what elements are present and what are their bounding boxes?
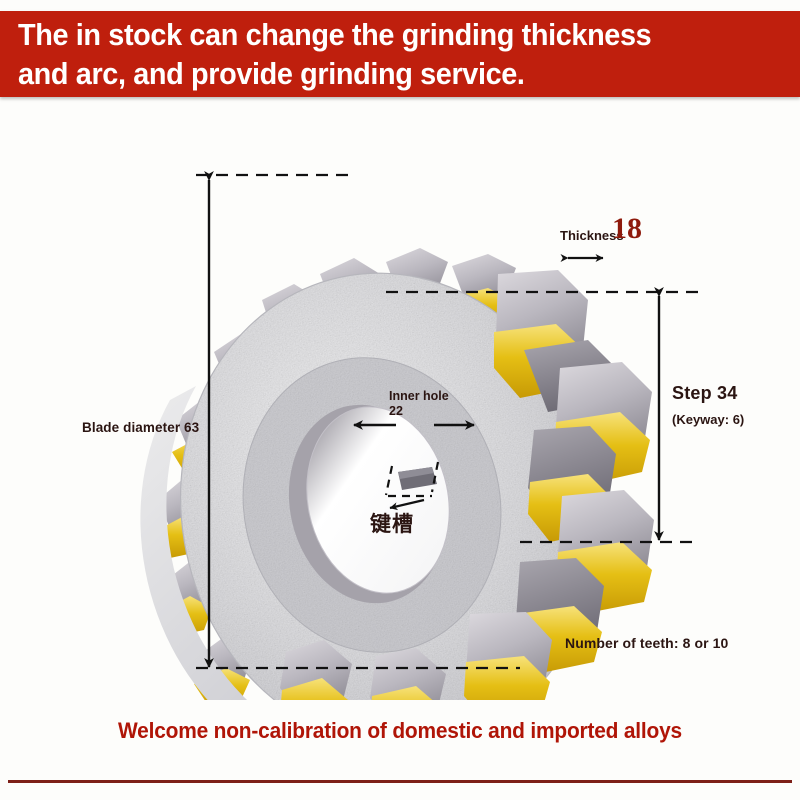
label-inner-hole: Inner hole 22 — [389, 389, 449, 419]
product-infographic: The in stock can change the grinding thi… — [0, 0, 800, 800]
header-banner: The in stock can change the grinding thi… — [0, 11, 800, 97]
label-keyway-chinese: 键槽 — [370, 508, 414, 538]
label-teeth-count: Number of teeth: 8 or 10 — [565, 635, 728, 651]
header-banner-text: The in stock can change the grinding thi… — [18, 15, 734, 93]
label-blade-diameter: Blade diameter 63 — [82, 420, 199, 435]
label-keyway-size: (Keyway: 6) — [672, 412, 744, 427]
label-step: Step 34 — [672, 383, 737, 404]
footer-text: Welcome non-calibration of domestic and … — [20, 718, 780, 744]
label-thickness-value: 18 — [612, 214, 642, 244]
footer-divider — [8, 780, 792, 783]
